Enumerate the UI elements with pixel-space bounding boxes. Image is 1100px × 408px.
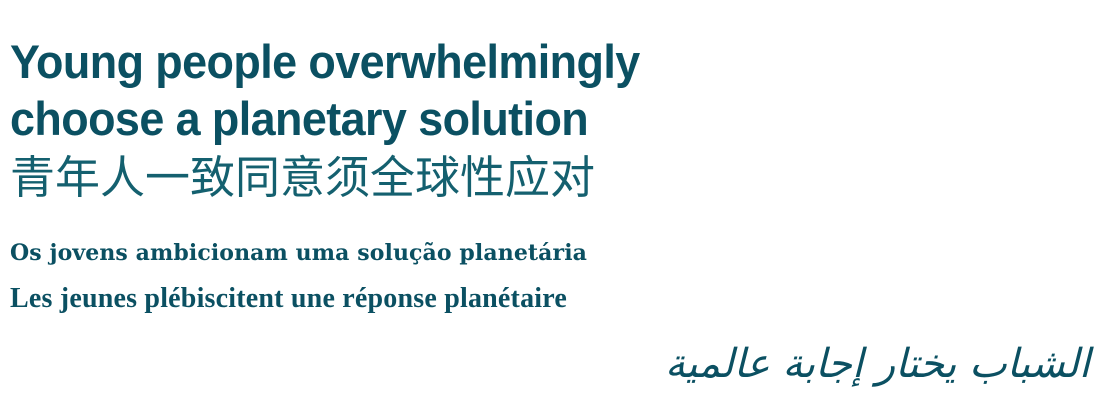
multilingual-headline-poster: Young people overwhelmingly choose a pla… — [0, 0, 1100, 408]
headline-chinese: 青年人一致同意须全球性应对 — [10, 152, 595, 204]
headline-portuguese: Os jovens ambicionam uma solução planetá… — [10, 240, 587, 267]
headline-english: Young people overwhelmingly choose a pla… — [10, 33, 965, 147]
headline-french: Les jeunes plébiscitent une réponse plan… — [10, 282, 567, 316]
headline-arabic: الشباب يختار إجابة عالمية — [665, 336, 1090, 392]
